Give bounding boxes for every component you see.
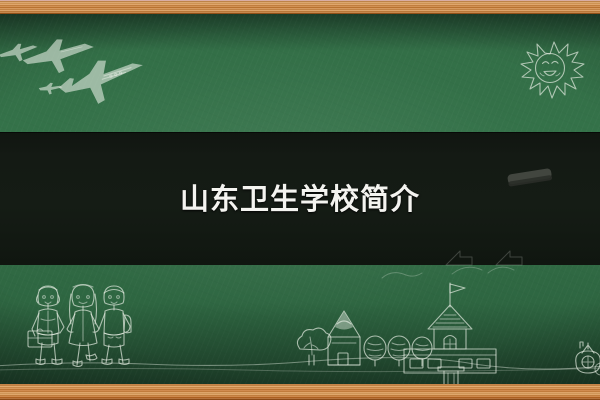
page-title: 山东卫生学校简介 xyxy=(0,183,600,217)
banner-image: 山东卫生学校简介 xyxy=(0,0,600,400)
wooden-frame-bottom xyxy=(0,384,600,400)
wooden-frame-top xyxy=(0,0,600,14)
